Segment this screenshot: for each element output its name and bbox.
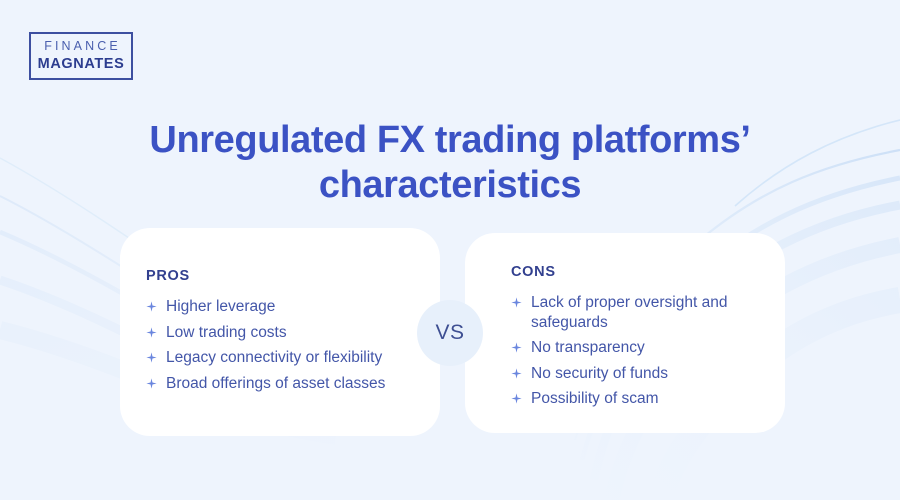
sparkle-star-icon [146, 378, 157, 389]
pros-card: PROS Higher leverage Low trading costs L… [120, 228, 440, 436]
cons-heading: CONS [511, 264, 765, 280]
logo-line-finance: FINANCE [41, 39, 121, 55]
sparkle-star-icon [511, 342, 522, 353]
infographic-canvas: FINANCE MAGNATES Unregulated FX trading … [0, 0, 900, 500]
list-item: Low trading costs [146, 323, 416, 343]
versus-badge: VS [417, 300, 483, 366]
list-item-label: No security of funds [531, 365, 668, 382]
pros-heading: PROS [146, 268, 416, 284]
list-item-label: Low trading costs [166, 324, 287, 341]
sparkle-star-icon [511, 393, 522, 404]
list-item: Broad offerings of asset classes [146, 374, 416, 394]
list-item: No security of funds [511, 364, 765, 384]
page-title: Unregulated FX trading platforms’ charac… [0, 118, 900, 206]
list-item-label: No transparency [531, 339, 645, 356]
versus-label: VS [435, 321, 464, 345]
list-item-label: Broad offerings of asset classes [166, 375, 385, 392]
sparkle-star-icon [146, 301, 157, 312]
pros-list: Higher leverage Low trading costs Legacy… [146, 297, 416, 393]
finance-magnates-logo[interactable]: FINANCE MAGNATES [29, 32, 133, 80]
cons-list: Lack of proper oversight and safeguards … [511, 293, 765, 409]
sparkle-star-icon [511, 297, 522, 308]
sparkle-star-icon [146, 327, 157, 338]
list-item-label: Lack of proper oversight and safeguards [531, 294, 727, 331]
cons-card: CONS Lack of proper oversight and safegu… [465, 233, 785, 433]
title-line-1: Unregulated FX trading platforms’ [0, 118, 900, 162]
sparkle-star-icon [146, 352, 157, 363]
list-item-label: Higher leverage [166, 298, 275, 315]
list-item: No transparency [511, 338, 765, 358]
list-item: Higher leverage [146, 297, 416, 317]
logo-line-magnates: MAGNATES [38, 56, 125, 73]
list-item: Legacy connectivity or flexibility [146, 348, 416, 368]
list-item: Lack of proper oversight and safeguards [511, 293, 765, 332]
sparkle-star-icon [511, 368, 522, 379]
title-line-2: characteristics [0, 163, 900, 207]
list-item-label: Possibility of scam [531, 390, 658, 407]
list-item-label: Legacy connectivity or flexibility [166, 349, 382, 366]
list-item: Possibility of scam [511, 389, 765, 409]
